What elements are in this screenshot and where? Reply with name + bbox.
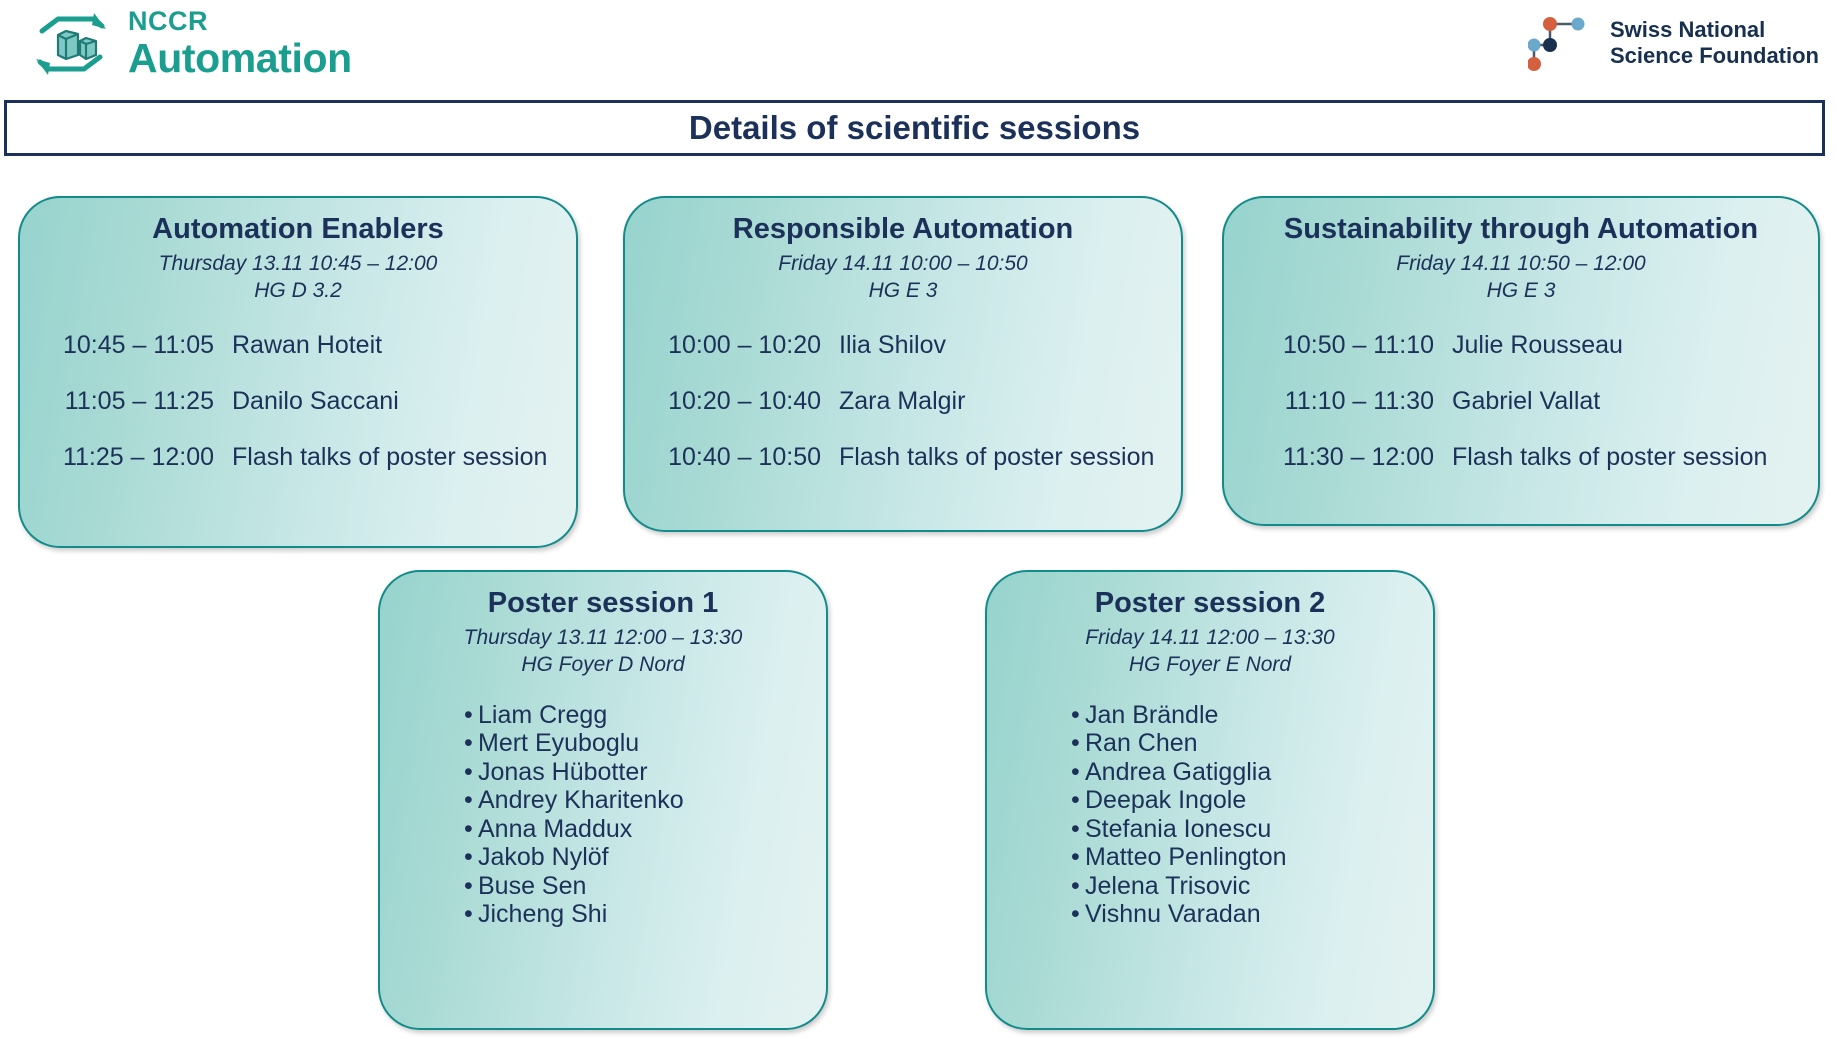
session-talk-row: 11:30 – 12:00 Flash talks of poster sess… xyxy=(1256,443,1802,499)
list-item: •Jan Brändle xyxy=(1071,701,1433,730)
list-item: •Anna Maddux xyxy=(464,815,826,844)
session-card-responsible-automation: Responsible Automation Friday 14.11 10:0… xyxy=(623,196,1183,532)
list-item: •Deepak Ingole xyxy=(1071,786,1433,815)
list-item: •Matteo Penlington xyxy=(1071,843,1433,872)
bullet-icon: • xyxy=(464,701,478,730)
nccr-wordmark: NCCR Automation xyxy=(128,8,352,79)
bullet-icon: • xyxy=(464,872,478,901)
presenter-name: Mert Eyuboglu xyxy=(478,729,639,758)
presenter-name: Andrey Kharitenko xyxy=(478,786,684,815)
session-talk-row: 10:00 – 10:20 Ilia Shilov xyxy=(643,331,1165,387)
bullet-icon: • xyxy=(1071,701,1085,730)
list-item: •Stefania Ionescu xyxy=(1071,815,1433,844)
snsf-network-icon xyxy=(1528,12,1598,74)
talk-speaker: Flash talks of poster session xyxy=(839,443,1154,472)
bullet-icon: • xyxy=(464,758,478,787)
presenter-name: Liam Cregg xyxy=(478,701,607,730)
list-item: •Jelena Trisovic xyxy=(1071,872,1433,901)
talk-speaker: Flash talks of poster session xyxy=(232,443,547,472)
bullet-icon: • xyxy=(464,815,478,844)
poster-card-header: Poster session 2 Friday 14.11 12:00 – 13… xyxy=(987,572,1433,679)
talk-speaker: Rawan Hoteit xyxy=(232,331,382,360)
presenter-name: Jan Brändle xyxy=(1085,701,1218,730)
poster-card-header: Poster session 1 Thursday 13.11 12:00 – … xyxy=(380,572,826,679)
session-talk-row: 11:10 – 11:30 Gabriel Vallat xyxy=(1256,387,1802,443)
session-talk-row: 11:05 – 11:25 Danilo Saccani xyxy=(36,387,560,443)
nccr-wordmark-line1: NCCR xyxy=(128,8,352,35)
poster-card-session-1: Poster session 1 Thursday 13.11 12:00 – … xyxy=(378,570,828,1030)
list-item: •Jakob Nylöf xyxy=(464,843,826,872)
session-card-datetime: Friday 14.11 10:00 – 10:50 xyxy=(625,251,1181,278)
talk-time: 11:25 – 12:00 xyxy=(36,443,214,472)
talk-time: 10:00 – 10:20 xyxy=(643,331,821,360)
snsf-logo: Swiss National Science Foundation xyxy=(1528,12,1819,74)
session-card-header: Automation Enablers Thursday 13.11 10:45… xyxy=(20,198,576,305)
snsf-wordmark-line1: Swiss National xyxy=(1610,17,1819,43)
talk-speaker: Zara Malgir xyxy=(839,387,965,416)
session-talk-row: 10:20 – 10:40 Zara Malgir xyxy=(643,387,1165,443)
talk-speaker: Flash talks of poster session xyxy=(1452,443,1767,472)
presenter-name: Buse Sen xyxy=(478,872,586,901)
poster-presenter-list: •Jan Brändle •Ran Chen •Andrea Gatigglia… xyxy=(987,701,1433,929)
bullet-icon: • xyxy=(1071,758,1085,787)
talk-speaker: Gabriel Vallat xyxy=(1452,387,1600,416)
bullet-icon: • xyxy=(464,900,478,929)
bullet-icon: • xyxy=(464,786,478,815)
page-title-bar: Details of scientific sessions xyxy=(4,100,1825,156)
presenter-name: Matteo Penlington xyxy=(1085,843,1287,872)
presenter-name: Deepak Ingole xyxy=(1085,786,1246,815)
list-item: •Buse Sen xyxy=(464,872,826,901)
session-talk-row: 11:25 – 12:00 Flash talks of poster sess… xyxy=(36,443,560,499)
presenter-name: Jicheng Shi xyxy=(478,900,607,929)
list-item: •Andrea Gatigglia xyxy=(1071,758,1433,787)
poster-card-room: HG Foyer E Nord xyxy=(987,652,1433,679)
presenter-name: Stefania Ionescu xyxy=(1085,815,1271,844)
talk-time: 11:05 – 11:25 xyxy=(36,387,214,416)
talk-speaker: Ilia Shilov xyxy=(839,331,946,360)
talk-time: 11:10 – 11:30 xyxy=(1256,387,1434,416)
talk-time: 10:40 – 10:50 xyxy=(643,443,821,472)
session-card-header: Responsible Automation Friday 14.11 10:0… xyxy=(625,198,1181,305)
bullet-icon: • xyxy=(1071,843,1085,872)
session-talk-row: 10:40 – 10:50 Flash talks of poster sess… xyxy=(643,443,1165,499)
talk-speaker: Julie Rousseau xyxy=(1452,331,1623,360)
session-card-sustainability-through-automation: Sustainability through Automation Friday… xyxy=(1222,196,1820,526)
session-talk-list: 10:45 – 11:05 Rawan Hoteit 11:05 – 11:25… xyxy=(20,331,576,499)
poster-card-title: Poster session 2 xyxy=(987,586,1433,621)
session-card-header: Sustainability through Automation Friday… xyxy=(1224,198,1818,305)
poster-card-title: Poster session 1 xyxy=(380,586,826,621)
nccr-automation-logo: NCCR Automation xyxy=(28,8,352,79)
snsf-wordmark-line2: Science Foundation xyxy=(1610,43,1819,69)
nccr-wordmark-line2: Automation xyxy=(128,38,352,79)
poster-card-room: HG Foyer D Nord xyxy=(380,652,826,679)
bullet-icon: • xyxy=(1071,900,1085,929)
snsf-wordmark: Swiss National Science Foundation xyxy=(1610,17,1819,68)
session-card-title: Sustainability through Automation xyxy=(1224,212,1818,247)
presenter-name: Vishnu Varadan xyxy=(1085,900,1261,929)
bullet-icon: • xyxy=(1071,872,1085,901)
list-item: •Jicheng Shi xyxy=(464,900,826,929)
session-talk-row: 10:50 – 11:10 Julie Rousseau xyxy=(1256,331,1802,387)
presenter-name: Jonas Hübotter xyxy=(478,758,648,787)
session-card-title: Responsible Automation xyxy=(625,212,1181,247)
list-item: •Liam Cregg xyxy=(464,701,826,730)
presenter-name: Ran Chen xyxy=(1085,729,1198,758)
talk-time: 10:20 – 10:40 xyxy=(643,387,821,416)
list-item: •Vishnu Varadan xyxy=(1071,900,1433,929)
session-card-room: HG E 3 xyxy=(1224,278,1818,305)
list-item: •Andrey Kharitenko xyxy=(464,786,826,815)
session-talk-list: 10:50 – 11:10 Julie Rousseau 11:10 – 11:… xyxy=(1224,331,1818,499)
session-card-title: Automation Enablers xyxy=(20,212,576,247)
page-title: Details of scientific sessions xyxy=(689,109,1140,147)
bullet-icon: • xyxy=(464,729,478,758)
list-item: •Jonas Hübotter xyxy=(464,758,826,787)
session-card-room: HG E 3 xyxy=(625,278,1181,305)
presenter-name: Anna Maddux xyxy=(478,815,632,844)
poster-card-datetime: Thursday 13.11 12:00 – 13:30 xyxy=(380,625,826,652)
presenter-name: Andrea Gatigglia xyxy=(1085,758,1271,787)
session-card-datetime: Friday 14.11 10:50 – 12:00 xyxy=(1224,251,1818,278)
session-talk-list: 10:00 – 10:20 Ilia Shilov 10:20 – 10:40 … xyxy=(625,331,1181,499)
presenter-name: Jakob Nylöf xyxy=(478,843,609,872)
bullet-icon: • xyxy=(1071,729,1085,758)
bullet-icon: • xyxy=(464,843,478,872)
talk-speaker: Danilo Saccani xyxy=(232,387,399,416)
session-card-datetime: Thursday 13.11 10:45 – 12:00 xyxy=(20,251,576,278)
talk-time: 10:45 – 11:05 xyxy=(36,331,214,360)
session-talk-row: 10:45 – 11:05 Rawan Hoteit xyxy=(36,331,560,387)
talk-time: 11:30 – 12:00 xyxy=(1256,443,1434,472)
session-card-automation-enablers: Automation Enablers Thursday 13.11 10:45… xyxy=(18,196,578,548)
talk-time: 10:50 – 11:10 xyxy=(1256,331,1434,360)
list-item: •Ran Chen xyxy=(1071,729,1433,758)
session-card-room: HG D 3.2 xyxy=(20,278,576,305)
bullet-icon: • xyxy=(1071,786,1085,815)
list-item: •Mert Eyuboglu xyxy=(464,729,826,758)
nccr-cubes-recycle-icon xyxy=(28,9,114,79)
poster-presenter-list: •Liam Cregg •Mert Eyuboglu •Jonas Hübott… xyxy=(380,701,826,929)
poster-card-datetime: Friday 14.11 12:00 – 13:30 xyxy=(987,625,1433,652)
presenter-name: Jelena Trisovic xyxy=(1085,872,1250,901)
poster-card-session-2: Poster session 2 Friday 14.11 12:00 – 13… xyxy=(985,570,1435,1030)
page-header: NCCR Automation Swiss National Science F… xyxy=(0,0,1837,95)
bullet-icon: • xyxy=(1071,815,1085,844)
